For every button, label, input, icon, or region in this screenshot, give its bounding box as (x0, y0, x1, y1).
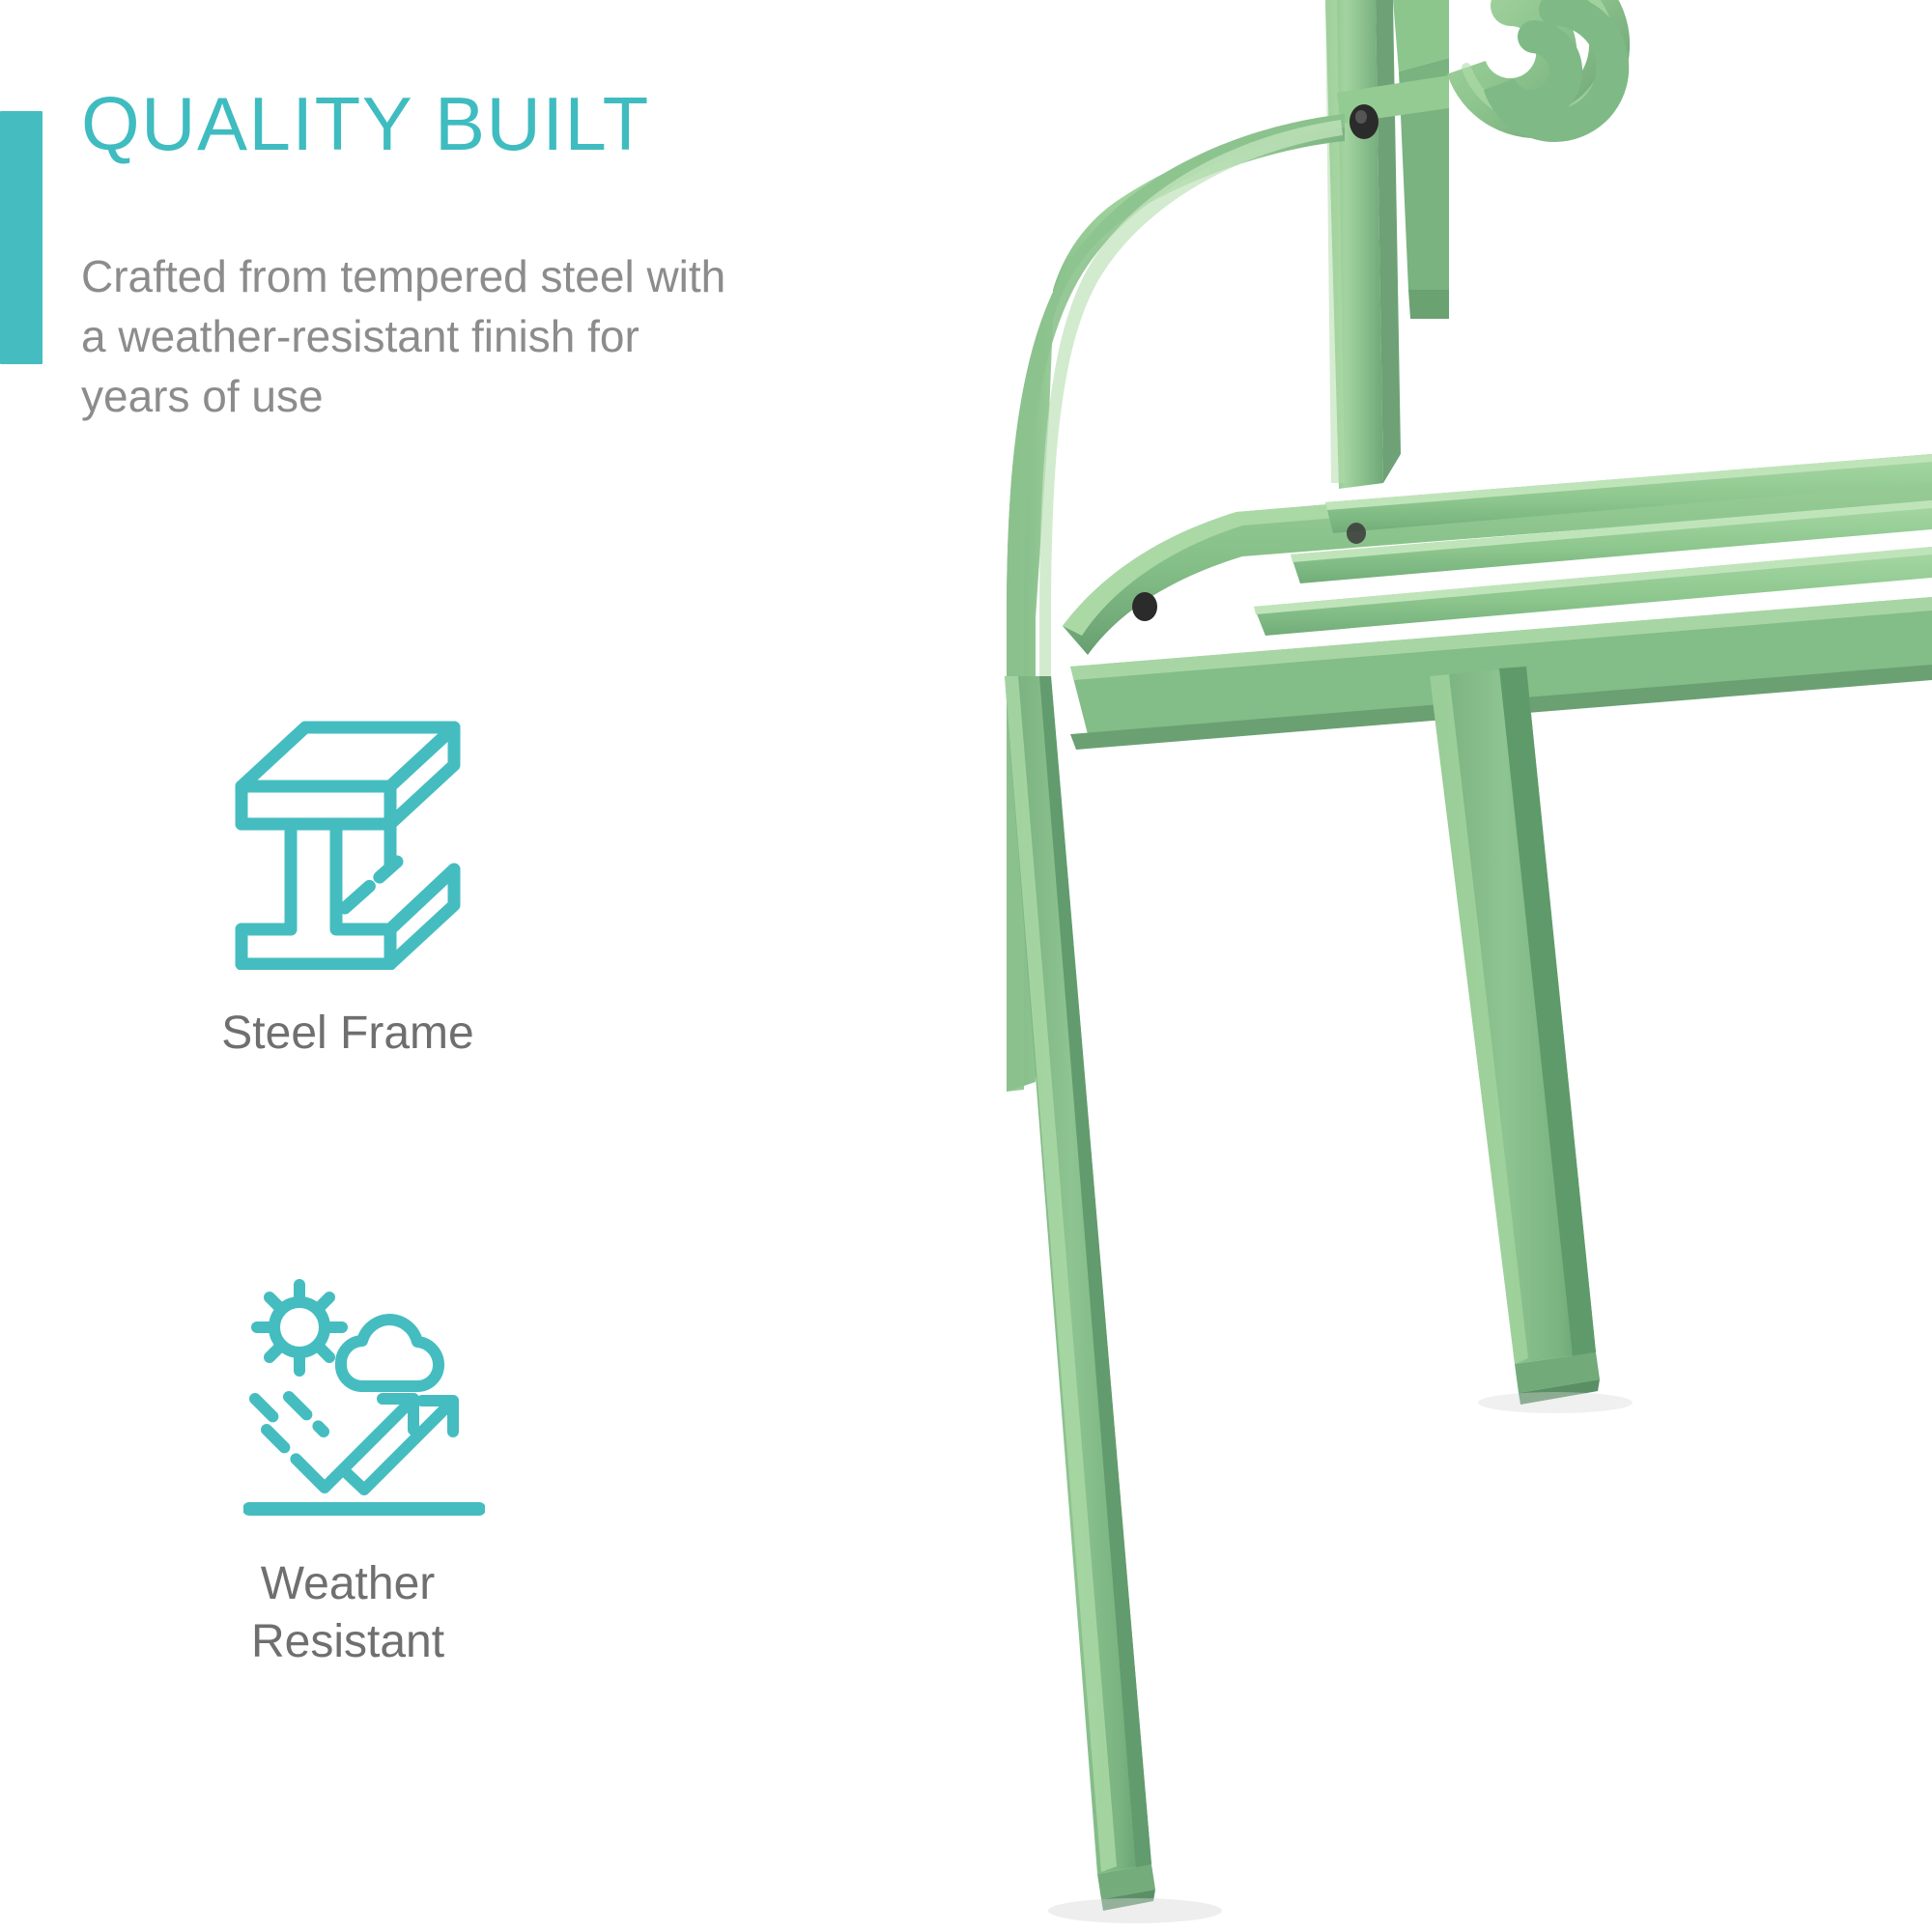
i-beam-icon (229, 715, 467, 975)
bench-rear-leg (1430, 667, 1600, 1405)
promo-banner: QUALITY BUILT Crafted from tempered stee… (0, 0, 1932, 1932)
feature-label-weather-line2: Resistant (251, 1616, 444, 1667)
feature-label-weather-resistant: Weather Resistant (77, 1555, 618, 1671)
feature-label-steel-frame: Steel Frame (77, 1005, 618, 1063)
product-photo (947, 0, 1932, 1932)
accent-bar (0, 111, 43, 364)
sun-cloud-deflect-icon (243, 1275, 485, 1521)
feature-weather-resistant: Weather Resistant (77, 1275, 618, 1758)
feature-label-weather-line1: Weather (261, 1558, 436, 1609)
feature-steel-frame: Steel Frame (77, 715, 618, 1121)
page-title: QUALITY BUILT (81, 79, 650, 168)
bench-front-leg (1005, 676, 1155, 1911)
page-subtitle: Crafted from tempered steel with a weath… (81, 246, 757, 426)
bench-back-post (1325, 0, 1401, 489)
